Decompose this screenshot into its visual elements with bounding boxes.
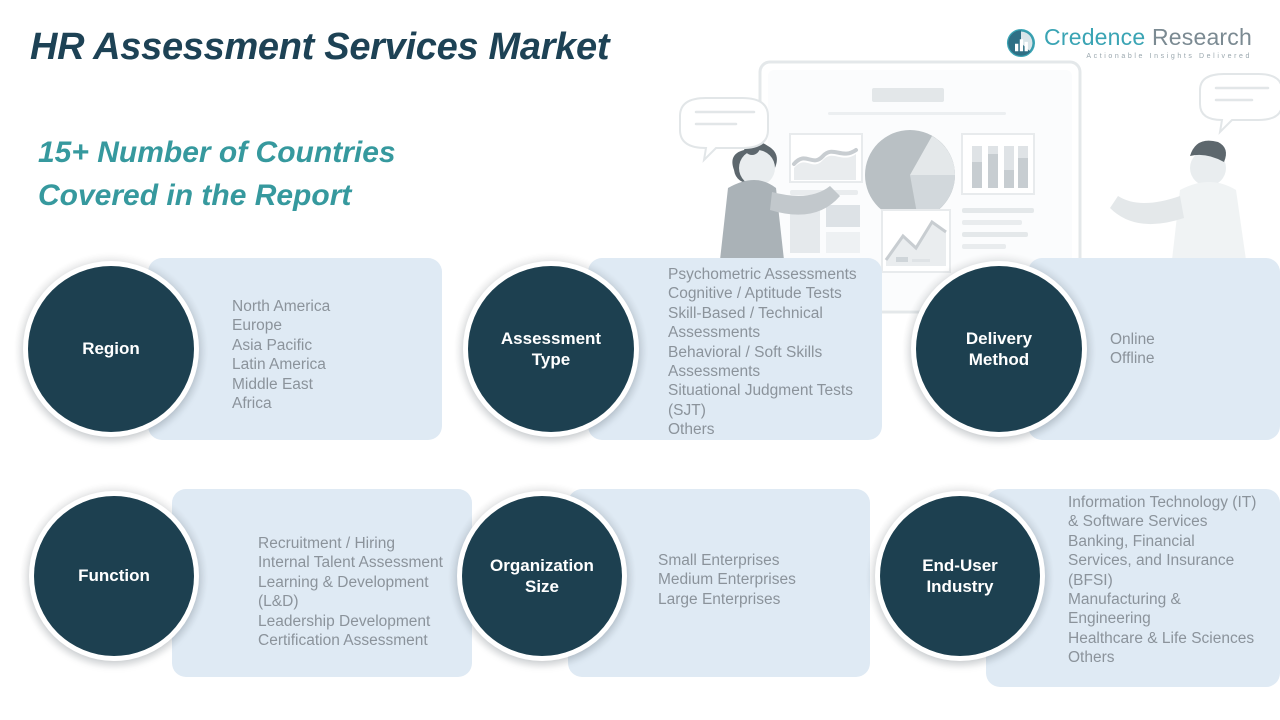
logo-tagline: Actionable Insights Delivered [1044,53,1252,60]
list-item: Internal Talent Assessment [258,553,466,572]
circle-fill: Function [34,496,194,656]
page-title: HR Assessment Services Market [30,26,609,69]
list-item: Others [668,420,884,439]
list-item: Behavioral / Soft Skills Assessments [668,343,884,382]
segment-circle-function[interactable]: Function [20,482,208,670]
list-item: Medium Enterprises [658,570,868,589]
subtitle-line-2: Covered in the Report [38,175,396,218]
list-item: Skill-Based / Technical Assessments [668,304,884,343]
logo-text-block: Credence Research Actionable Insights De… [1044,26,1252,60]
list-item: Leadership Development [258,612,466,631]
segment-label-delivery-method: Delivery Method [958,328,1040,371]
segment-label-region: Region [74,338,148,359]
list-item: Latin America [232,355,438,374]
segment-label-end-user-industry: End-User Industry [914,555,1006,598]
segment-circle-region[interactable]: Region [14,252,208,446]
list-item: Cognitive / Aptitude Tests [668,284,884,303]
segment-items-assessment-type: Psychometric Assessments Cognitive / Apt… [668,265,884,439]
list-item: North America [232,297,438,316]
list-item: Large Enterprises [658,590,868,609]
circle-fill: End-User Industry [880,496,1040,656]
subtitle: 15+ Number of Countries Covered in the R… [38,132,396,217]
list-item: Offline [1110,349,1270,368]
logo-name-credence: Credence [1044,24,1145,50]
segment-items-function: Recruitment / Hiring Internal Talent Ass… [258,534,466,650]
list-item: Others [1068,648,1262,667]
segment-label-assessment-type: Assessment Type [493,328,609,371]
list-item: Learning & Development (L&D) [258,573,466,612]
segment-label-organization-size: Organization Size [482,555,602,598]
list-item: Small Enterprises [658,551,868,570]
segment-circle-end-user-industry[interactable]: End-User Industry [866,482,1054,670]
list-item: Asia Pacific [232,336,438,355]
segment-items-end-user-industry: Information Technology (IT) & Software S… [1068,493,1262,667]
circle-fill: Assessment Type [468,266,634,432]
credence-research-logo[interactable]: Credence Research Actionable Insights De… [1006,26,1252,60]
segment-items-region: North America Europe Asia Pacific Latin … [232,297,438,413]
list-item: Recruitment / Hiring [258,534,466,553]
list-item: Banking, Financial Services, and Insuran… [1068,532,1262,590]
segment-circle-assessment-type[interactable]: Assessment Type [454,252,648,446]
circle-fill: Delivery Method [916,266,1082,432]
segment-circle-delivery-method[interactable]: Delivery Method [902,252,1096,446]
segment-items-delivery-method: Online Offline [1110,330,1270,369]
list-item: Europe [232,316,438,335]
list-item: Manufacturing & Engineering [1068,590,1262,629]
segment-grid: Region North America Europe Asia Pacific… [0,0,1280,720]
circle-fill: Organization Size [462,496,622,656]
subtitle-line-1: 15+ Number of Countries [38,132,396,175]
circle-fill: Region [28,266,194,432]
list-item: Africa [232,394,438,413]
list-item: Healthcare & Life Sciences [1068,629,1262,648]
segment-items-organization-size: Small Enterprises Medium Enterprises Lar… [658,551,868,609]
logo-name-research: Research [1152,24,1252,50]
list-item: Certification Assessment [258,631,466,650]
list-item: Situational Judgment Tests (SJT) [668,381,884,420]
list-item: Online [1110,330,1270,349]
list-item: Middle East [232,375,438,394]
list-item: Psychometric Assessments [668,265,884,284]
logo-name: Credence Research [1044,26,1252,49]
bar-chart-circle-icon [1006,28,1036,58]
segment-circle-organization-size[interactable]: Organization Size [448,482,636,670]
list-item: Information Technology (IT) & Software S… [1068,493,1262,532]
segment-label-function: Function [70,565,158,586]
